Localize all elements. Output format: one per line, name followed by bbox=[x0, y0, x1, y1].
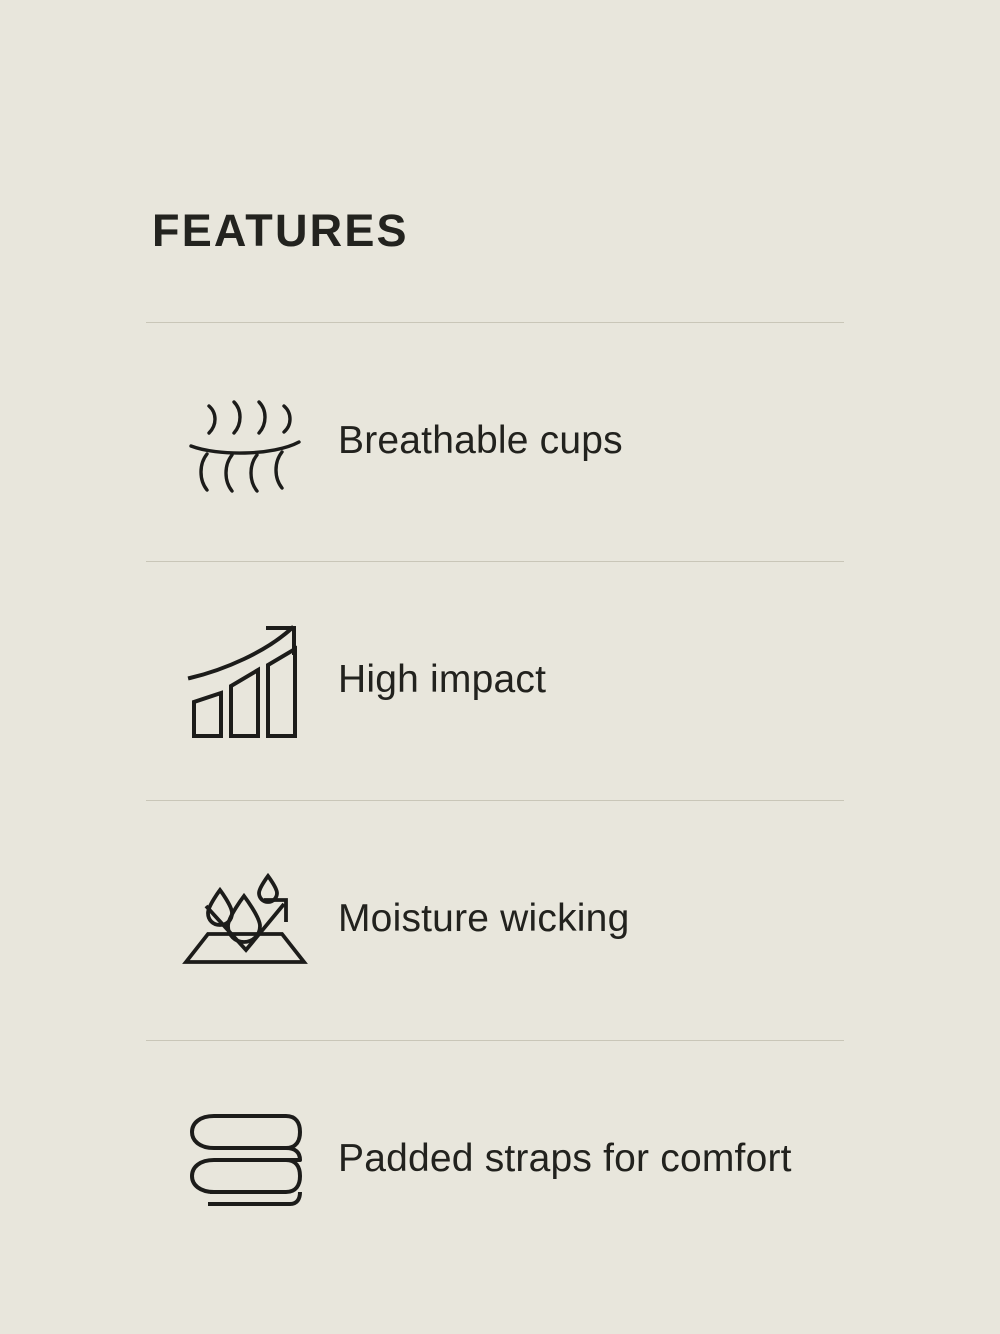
folded-padded-strap-icon bbox=[146, 1095, 338, 1225]
feature-row: High impact bbox=[146, 561, 844, 800]
feature-label: Padded straps for comfort bbox=[338, 1138, 792, 1181]
feature-row: Breathable cups bbox=[146, 322, 844, 561]
breathable-fabric-airflow-icon bbox=[146, 377, 338, 507]
feature-label: Breathable cups bbox=[338, 420, 623, 463]
page-title: FEATURES bbox=[152, 208, 409, 253]
features-panel: FEATURES Breathable cups bbox=[0, 0, 1000, 1334]
rising-bar-chart-arrow-icon bbox=[146, 616, 338, 746]
water-droplets-fabric-icon bbox=[146, 855, 338, 985]
feature-row: Moisture wicking bbox=[146, 800, 844, 1039]
feature-row: Padded straps for comfort bbox=[146, 1040, 844, 1279]
feature-label: High impact bbox=[338, 659, 546, 702]
feature-label: Moisture wicking bbox=[338, 898, 629, 941]
